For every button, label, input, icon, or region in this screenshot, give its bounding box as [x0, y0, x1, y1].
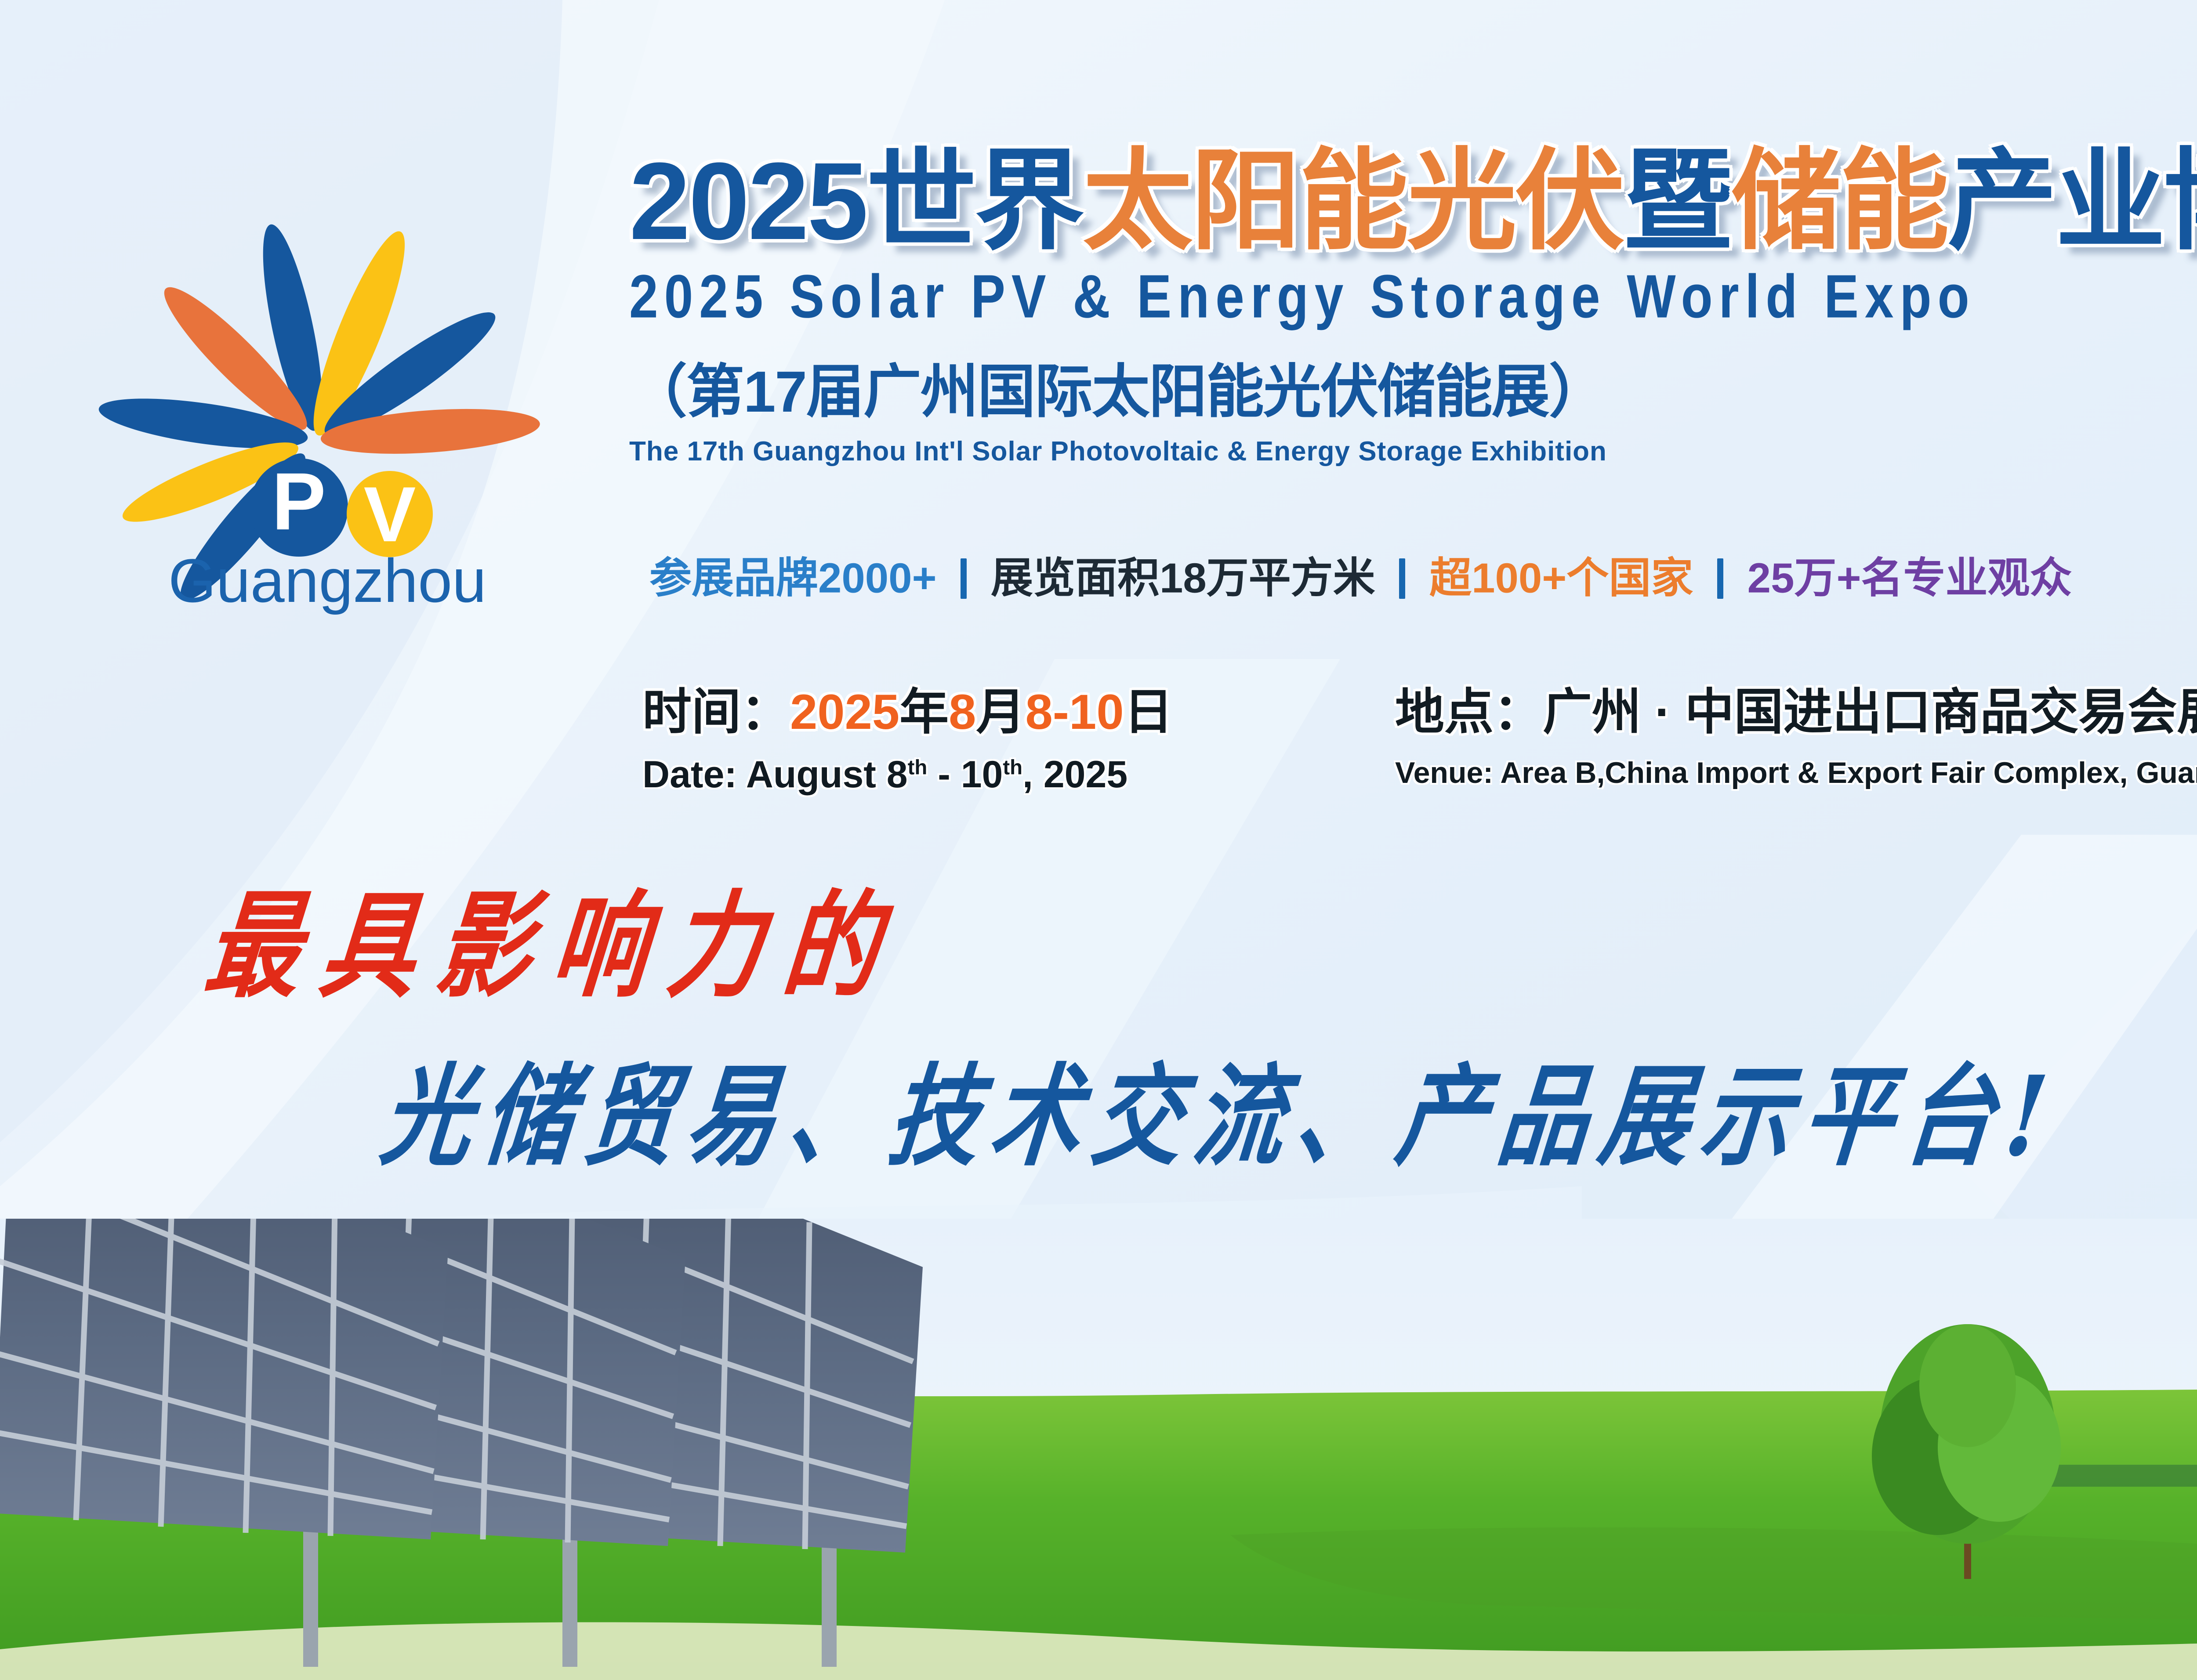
date-label: 时间： [642, 684, 790, 739]
main-title-english: 2025 Solar PV & Energy Storage World Exp… [629, 261, 2197, 332]
venue-value: 广州 · 中国进出口商品交易会展馆B区 [1543, 684, 2197, 739]
title-part-5: 产业博览会 [1947, 140, 2197, 262]
slogan-line-1: 最具影响力的 [200, 888, 906, 1003]
date-en-prefix: Date: August 8 [642, 753, 908, 796]
statistics-strip: 参展品牌2000+ 展览面积18万平方米 超100+个国家 25万+名专业观众 [649, 554, 2072, 600]
date-day-unit: 日 [1124, 684, 1173, 739]
landscape-scene [0, 1219, 2197, 1680]
title-part-4: 储能 [1731, 140, 1947, 262]
edition-subtitle-chinese: （第17届广州国际太阳能光伏储能展） [629, 345, 2197, 429]
date-month-unit: 月 [976, 684, 1025, 739]
date-block: 时间：2025年8月8-10日 Date: August 8th - 10th,… [642, 672, 1173, 797]
title-part-2: 太阳能光伏 [1083, 140, 1623, 262]
title-part-3: 暨 [1623, 140, 1731, 262]
venue-label: 地点： [1395, 684, 1543, 739]
logo-v-letter: V [364, 471, 416, 558]
stat-exhibition-area: 展览面积18万平方米 [991, 555, 1375, 602]
date-line-chinese: 时间：2025年8月8-10日 [642, 672, 1173, 743]
headline-block: 2025世界太阳能光伏暨储能产业博览会 2025 Solar PV & Ener… [629, 145, 2197, 467]
edition-subtitle-english: The 17th Guangzhou Int'l Solar Photovolt… [629, 436, 2197, 467]
promotional-banner: P V Guangzhou 2025世界太阳能光伏暨储能产业博览会 2025 S… [0, 0, 2197, 1680]
solar-panel [0, 1219, 448, 1539]
stat-separator [1717, 558, 1723, 599]
venue-line-chinese: 地点：广州 · 中国进出口商品交易会展馆B区 [1395, 672, 2197, 743]
stat-separator [961, 558, 967, 599]
venue-block: 地点：广州 · 中国进出口商品交易会展馆B区 Venue: Area B,Chi… [1395, 672, 2197, 790]
logo-wordmark: Guangzhou [168, 546, 486, 615]
slogan-line-2: 光储贸易、技术交流、产品展示平台! [377, 1062, 2063, 1172]
date-month: 8 [949, 684, 976, 739]
date-en-sup-1: th [908, 756, 928, 779]
date-days: 8-10 [1025, 684, 1124, 739]
main-title: 2025世界太阳能光伏暨储能产业博览会 [629, 145, 2197, 257]
pv-guangzhou-logo: P V Guangzhou [46, 158, 587, 624]
stat-separator [1399, 558, 1405, 599]
stat-exhibiting-brands: 参展品牌2000+ [649, 555, 937, 602]
date-en-mid: - 10 [927, 753, 1003, 796]
stat-visitors: 25万+名专业观众 [1747, 555, 2072, 602]
date-year-unit: 年 [899, 684, 949, 739]
date-year: 2025 [790, 684, 899, 739]
title-part-1: 2025世界 [629, 140, 1083, 262]
date-en-sup-2: th [1003, 756, 1022, 779]
venue-line-english: Venue: Area B,China Import & Export Fair… [1395, 756, 2197, 790]
date-line-english: Date: August 8th - 10th, 2025 [642, 753, 1173, 797]
logo-p-letter: P [272, 456, 326, 547]
stat-countries: 超100+个国家 [1429, 555, 1693, 602]
date-en-suffix: , 2025 [1022, 753, 1128, 796]
